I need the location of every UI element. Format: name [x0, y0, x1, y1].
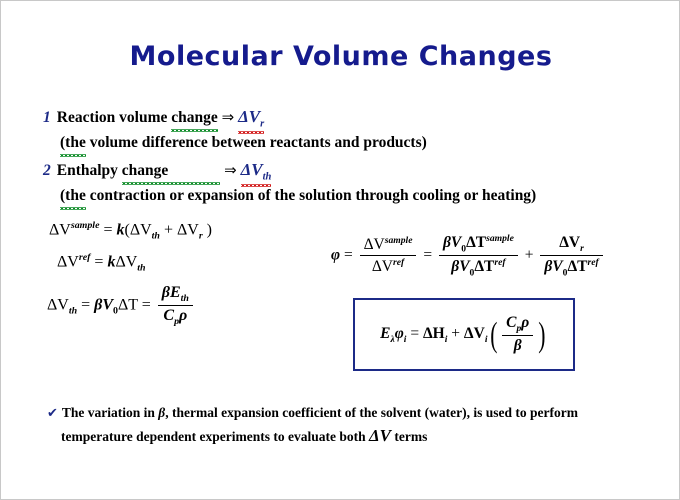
eq1-lhs: ΔV	[49, 221, 71, 238]
eq1-term2: ΔV	[177, 221, 199, 238]
eq3-den-rho: ρ	[179, 307, 187, 324]
eq4-f2-den-v: V	[459, 258, 469, 275]
bullet-1-number: 1	[43, 109, 51, 126]
eq4-f3-den-v: V	[552, 258, 562, 275]
eq4-fraction-3: ΔVr βV0ΔTref	[540, 234, 602, 278]
eq1-term1: ΔV	[130, 221, 152, 238]
eq3-num-e: E	[170, 284, 181, 301]
bullet-2-number: 2	[43, 162, 51, 179]
boxed-delta-h: ΔH	[423, 325, 445, 342]
slide-canvas: Molecular Volume Changes 1Reaction volum…	[0, 0, 680, 500]
eq4-f2-numerator: βV0ΔTsample	[439, 233, 518, 255]
eq3-delta-t: ΔT	[118, 296, 138, 313]
eq3-v: V	[102, 296, 113, 313]
eq4-f1-numerator: ΔVsample	[360, 235, 417, 255]
eq3-equals-1: =	[81, 296, 90, 313]
equation-delta-v-sample: ΔVsample = k(ΔVth + ΔVr )	[49, 220, 212, 242]
eq4-f2-num-v: V	[451, 234, 461, 251]
eq3-fraction-numerator: βEth	[158, 284, 193, 305]
check-line2-b: terms	[391, 429, 427, 444]
eq4-equals-2: =	[423, 246, 432, 263]
eq4-f3-num-base: ΔV	[559, 234, 580, 251]
eq4-f3-den-dt-superscript: ref	[588, 257, 599, 268]
check-line2-a: temperature dependent experiments to eva…	[61, 429, 369, 444]
eq4-f3-num-subscript: r	[580, 243, 584, 254]
bullet-1-text-pre: Reaction volume	[57, 109, 172, 126]
eq3-num-e-subscript: th	[181, 293, 189, 304]
eq4-f3-den-dt: ΔT	[567, 258, 587, 275]
boxed-delta-v-subscript: i	[485, 334, 488, 345]
check-bullet: ✔The variation in β, thermal expansion c…	[47, 403, 647, 448]
eq3-lhs: ΔV	[47, 296, 69, 313]
delta-v-th-symbol: ΔVth	[241, 158, 272, 185]
implies-arrow-1: ⇒	[222, 108, 235, 126]
eq2-lhs-superscript: ref	[79, 252, 91, 263]
boxed-den-beta: β	[514, 337, 522, 354]
equation-delta-v-th: ΔVth = βV0ΔT = βEth Cpρ	[47, 284, 196, 327]
numbered-bullet-1: 1Reaction volume change ⇒ ΔVr (the volum…	[43, 105, 643, 154]
eq4-f2-num-beta: β	[443, 234, 451, 251]
page-title: Molecular Volume Changes	[1, 41, 680, 72]
bullet-1-line2: (the volume difference between reactants…	[60, 132, 643, 154]
boxed-equals: =	[410, 325, 419, 342]
boxed-plus: +	[451, 325, 460, 342]
boxed-equation: Eλφi = ΔHi + ΔVi(Cpρβ)	[380, 314, 548, 355]
eq3-lhs-subscript: th	[69, 306, 77, 317]
boxed-equation-container: Eλφi = ΔHi + ΔVi(Cpρβ)	[353, 298, 575, 371]
bullet-1-spellcheck-word: change	[171, 107, 218, 129]
eq3-equals-2: =	[142, 296, 151, 313]
eq4-equals-1: =	[344, 246, 353, 263]
boxed-num-c: C	[506, 314, 516, 331]
eq4-f1-den-superscript: ref	[393, 257, 404, 268]
bullet-2-text-pre: Enthalpy	[57, 162, 122, 179]
delta-v-th-subscript: th	[263, 171, 272, 182]
eq1-k: k	[117, 221, 125, 238]
equation-delta-v-ref: ΔVref = kΔVth	[57, 252, 146, 274]
implies-arrow-2: ⇒	[224, 161, 237, 179]
equation-phi-definition: φ = ΔVsample ΔVref = βV0ΔTsample βV0ΔTre…	[331, 233, 606, 279]
check-line2-delta-v: ΔV	[369, 426, 391, 445]
eq4-f2-num-dt-superscript: sample	[486, 233, 514, 244]
eq1-equals: =	[103, 221, 112, 238]
eq4-plus: +	[525, 246, 534, 263]
boxed-fraction-denominator: β	[502, 335, 533, 355]
eq4-fraction-1: ΔVsample ΔVref	[360, 235, 417, 276]
eq3-fraction: βEth Cpρ	[158, 284, 193, 327]
delta-v-r-symbol: ΔVr	[238, 105, 264, 132]
eq4-f2-den-dt: ΔT	[474, 258, 494, 275]
eq2-rhs-subscript: th	[137, 263, 145, 274]
eq1-term1-subscript: th	[152, 231, 160, 242]
check-line2: temperature dependent experiments to eva…	[61, 424, 647, 449]
eq4-f1-denominator: ΔVref	[360, 255, 417, 276]
eq1-plus: +	[164, 221, 173, 238]
eq3-fraction-denominator: Cpρ	[158, 305, 193, 327]
eq4-phi: φ	[331, 246, 340, 263]
bullet-2-line2-rest: contraction or expansion of the solution…	[86, 187, 536, 204]
boxed-e: E	[380, 325, 390, 342]
eq1-lhs-superscript: sample	[71, 220, 100, 231]
eq4-f2-den-beta: β	[451, 258, 459, 275]
boxed-fraction-numerator: Cpρ	[502, 314, 533, 335]
eq4-f1-num-base: ΔV	[364, 236, 385, 253]
eq1-close-paren: )	[207, 221, 212, 238]
boxed-phi: φ	[395, 325, 404, 342]
eq3-num-beta: β	[162, 284, 170, 301]
delta-v-r-subscript: r	[260, 118, 264, 129]
eq1-term2-subscript: r	[199, 231, 203, 242]
eq4-f1-den-base: ΔV	[372, 258, 393, 275]
boxed-delta-v: ΔV	[464, 325, 485, 342]
check-line1-b: , thermal expansion coefficient of the s…	[165, 405, 578, 420]
bullet-2-line2: (the contraction or expansion of the sol…	[60, 185, 663, 207]
numbered-bullet-2: 2Enthalpy change ⇒ ΔVth (the contraction…	[43, 158, 663, 207]
eq4-f1-num-superscript: sample	[385, 235, 413, 246]
bullet-2-spellcheck-word: change	[122, 160, 221, 182]
delta-v-th-base: ΔV	[241, 160, 263, 179]
eq4-f3-denominator: βV0ΔTref	[540, 255, 602, 278]
eq2-rhs: ΔV	[115, 253, 137, 270]
boxed-open-paren: (	[490, 322, 497, 347]
eq4-f2-den-dt-superscript: ref	[494, 257, 505, 268]
eq4-fraction-2: βV0ΔTsample βV0ΔTref	[439, 233, 518, 279]
eq4-f3-numerator: ΔVr	[540, 234, 602, 255]
bullet-2-line2-spellcheck-word: (the	[60, 185, 86, 207]
eq2-lhs: ΔV	[57, 253, 79, 270]
bullet-1-line2-rest: volume difference between reactants and …	[86, 134, 427, 151]
boxed-delta-h-subscript: i	[445, 334, 448, 345]
eq2-equals: =	[94, 253, 103, 270]
bullet-1-line2-spellcheck-word: (the	[60, 132, 86, 154]
boxed-fraction: Cpρβ	[502, 314, 533, 355]
boxed-close-paren: )	[538, 322, 545, 347]
eq4-f2-denominator: βV0ΔTref	[439, 255, 518, 278]
boxed-phi-subscript: i	[404, 334, 407, 345]
check-mark-icon: ✔	[47, 406, 58, 421]
delta-v-r-base: ΔV	[238, 107, 260, 126]
eq4-f2-num-dt: ΔT	[466, 234, 486, 251]
check-line1-a: The variation in	[62, 405, 158, 420]
boxed-num-rho: ρ	[521, 314, 529, 331]
eq3-den-c: C	[163, 307, 174, 324]
